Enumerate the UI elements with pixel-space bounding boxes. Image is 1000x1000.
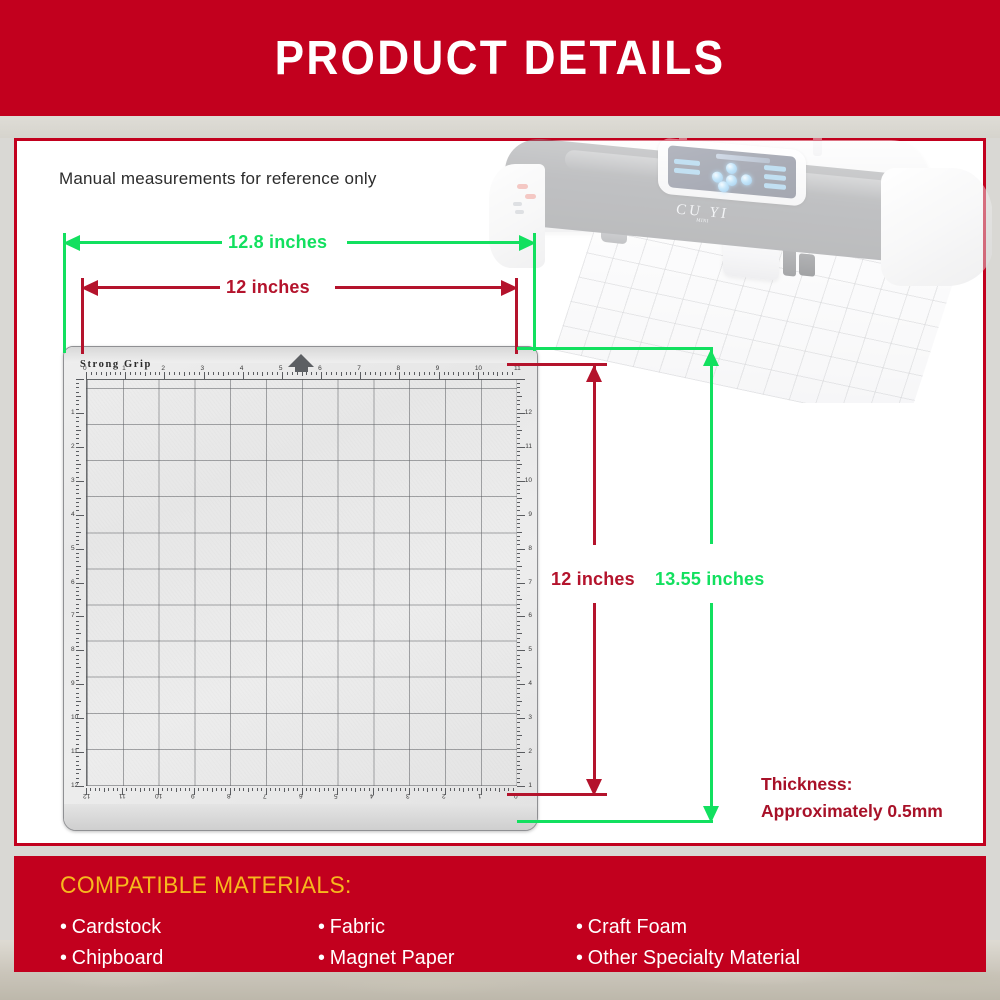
ruler-tick [395, 372, 396, 375]
ruler-tick [288, 788, 289, 791]
ruler-tick [76, 532, 81, 533]
ruler-tick [321, 372, 322, 379]
ruler-tick [370, 372, 371, 375]
ruler-tick [125, 372, 126, 379]
ruler-tick [270, 788, 271, 791]
ruler-tick [90, 788, 91, 791]
ruler-number: 4 [71, 511, 75, 518]
ruler-tick [230, 788, 231, 795]
ruler-tick [517, 493, 520, 494]
label-width-inner: 12 inches [220, 277, 316, 298]
ruler-tick [486, 788, 487, 791]
ruler-tick [287, 372, 288, 375]
ruler-tick [458, 372, 459, 376]
ruler-number: 1 [122, 365, 126, 372]
ruler-tick [76, 502, 79, 503]
ruler-tick [517, 396, 522, 397]
ruler-tick [297, 788, 298, 791]
ruler-tick [517, 485, 520, 486]
ruler-tick [517, 464, 522, 465]
ruler-tick [517, 587, 520, 588]
page-title: PRODUCT DETAILS [275, 31, 726, 86]
ruler-tick [76, 599, 81, 600]
ruler-tick [373, 788, 374, 795]
thickness-value: Approximately 0.5mm [761, 798, 943, 825]
ruler-tick [184, 372, 185, 376]
ruler-tick [164, 372, 165, 379]
ruler-tick [490, 788, 491, 791]
ruler-tick [91, 372, 92, 375]
ruler-tick [76, 621, 79, 622]
machine-action-button[interactable] [764, 174, 786, 181]
material-item: •Other Specialty Material [576, 942, 800, 973]
ruler-tick [517, 701, 522, 702]
cutting-machine-photo: CU YI MINI [483, 138, 992, 403]
ruler-tick [375, 372, 376, 375]
ruler-tick [76, 400, 79, 401]
material-label: Other Specialty Material [588, 946, 800, 969]
ruler-tick [517, 527, 520, 528]
ruler-number: 2 [528, 748, 532, 755]
mat-ruler-left: 123456789101112 [70, 379, 86, 786]
ruler-tick [364, 788, 365, 791]
ruler-tick [145, 372, 146, 376]
ruler-tick [311, 372, 312, 375]
ruler-tick [76, 782, 79, 783]
ruler-tick [444, 372, 445, 375]
ruler-tick [76, 718, 84, 719]
ruler-tick [517, 680, 520, 681]
ruler-number: 1 [71, 409, 75, 416]
bullet-icon: • [576, 946, 583, 969]
ruler-number: 3 [201, 365, 205, 372]
ruler-tick [76, 693, 79, 694]
ruler-tick [369, 788, 370, 791]
ruler-tick [429, 372, 430, 375]
ruler-tick [517, 404, 520, 405]
ruler-tick [262, 372, 263, 376]
ruler-tick [76, 748, 79, 749]
ruler-tick [76, 756, 79, 757]
ruler-tick [502, 372, 503, 375]
ruler-tick [204, 372, 205, 379]
ruler-tick [189, 788, 190, 791]
ruler-tick [76, 727, 79, 728]
product-details-infographic: PRODUCT DETAILS Manual measurements for … [0, 0, 1000, 1000]
ruler-tick [115, 372, 116, 375]
ruler-tick [441, 788, 442, 791]
mat-texture [87, 380, 517, 786]
ruler-tick [346, 788, 347, 791]
ruler-tick [171, 788, 172, 791]
ruler-tick [126, 788, 127, 791]
ruler-tick [76, 481, 84, 482]
ruler-tick [517, 659, 520, 660]
mat-ruler-right: 121110987654321 [517, 379, 533, 786]
ruler-tick [76, 655, 79, 656]
ruler-tick [76, 591, 79, 592]
machine-action-button[interactable] [764, 183, 786, 190]
ruler-tick [517, 633, 522, 634]
ruler-tick [76, 752, 84, 753]
ruler-tick [158, 788, 159, 795]
thickness-note: Thickness: Approximately 0.5mm [761, 771, 943, 825]
ruler-tick [454, 788, 455, 791]
ruler-tick [76, 396, 81, 397]
ruler-tick [517, 646, 520, 647]
ruler-tick [517, 553, 520, 554]
ruler-number: 3 [528, 714, 532, 721]
ruler-tick [144, 788, 145, 791]
ruler-tick [333, 788, 334, 791]
ruler-tick [499, 788, 500, 792]
green-width-arrow-left-icon [63, 235, 80, 251]
ruler-tick [517, 604, 520, 605]
ruler-tick [463, 372, 464, 375]
ruler-tick [468, 788, 469, 791]
ruler-number: 8 [528, 545, 532, 552]
ruler-tick [76, 680, 79, 681]
ruler-tick [517, 578, 520, 579]
ruler-tick [380, 372, 381, 376]
ruler-tick [253, 372, 254, 375]
ruler-tick [517, 765, 520, 766]
ruler-tick [225, 788, 226, 791]
red-extension-left [81, 278, 84, 354]
ruler-tick [199, 372, 200, 375]
ruler-tick [355, 788, 356, 792]
ruler-tick [238, 372, 239, 375]
ruler-tick [459, 788, 460, 791]
ruler-tick [76, 566, 81, 567]
ruler-tick [517, 481, 525, 482]
ruler-tick [517, 409, 520, 410]
ruler-tick [517, 506, 520, 507]
ruler-tick [76, 421, 79, 422]
ruler-tick [517, 477, 520, 478]
ruler-tick [284, 788, 285, 792]
ruler-tick [517, 655, 520, 656]
ruler-tick [282, 372, 283, 379]
material-item: •Fabric [318, 911, 566, 942]
ruler-tick [517, 722, 520, 723]
ruler-tick [477, 788, 478, 791]
ruler-tick [365, 372, 366, 375]
ruler-tick [76, 659, 79, 660]
ruler-tick [390, 372, 391, 375]
materials-columns: •Cardstock•Chipboard•Fabric•Magnet Paper… [60, 911, 986, 973]
materials-column: •Fabric•Magnet Paper [318, 911, 576, 973]
ruler-tick [517, 536, 520, 537]
ruler-tick [517, 731, 520, 732]
ruler-tick [76, 731, 79, 732]
red-width-arrow-left-icon [81, 280, 98, 296]
ruler-tick [517, 591, 520, 592]
ruler-tick [76, 519, 79, 520]
ruler-tick [517, 400, 520, 401]
ruler-tick [76, 684, 84, 685]
ruler-tick [239, 788, 240, 791]
machine-indicator-led [513, 202, 522, 206]
ruler-tick [140, 372, 141, 375]
ruler-tick [130, 372, 131, 375]
ruler-tick [76, 477, 79, 478]
ruler-tick [169, 372, 170, 375]
ruler-tick [409, 372, 410, 375]
ruler-tick [346, 372, 347, 375]
machine-down-button[interactable] [718, 181, 729, 193]
ruler-tick [517, 714, 520, 715]
ruler-tick [135, 788, 136, 791]
machine-indicator-led [525, 194, 536, 199]
ruler-tick [248, 788, 249, 792]
ruler-tick [167, 788, 168, 791]
ruler-tick [180, 788, 181, 791]
ruler-tick [76, 493, 79, 494]
ruler-tick [110, 372, 111, 375]
ruler-tick [517, 667, 522, 668]
green-extension-left [63, 233, 66, 353]
ruler-tick [517, 468, 520, 469]
material-item: •Chipboard [60, 942, 308, 973]
bullet-icon: • [60, 915, 67, 938]
ruler-tick [76, 583, 84, 584]
ruler-number: 9 [71, 680, 75, 687]
ruler-tick [414, 372, 415, 375]
ruler-tick [76, 417, 79, 418]
ruler-tick [517, 510, 520, 511]
ruler-tick [76, 413, 84, 414]
ruler-tick [517, 625, 520, 626]
bullet-icon: • [318, 946, 325, 969]
ruler-tick [517, 616, 525, 617]
machine-screen-caption [716, 154, 770, 164]
ruler-tick [76, 676, 79, 677]
ruler-tick [517, 434, 520, 435]
ruler-number: 6 [528, 612, 532, 619]
ruler-tick [76, 553, 79, 554]
ruler-tick [517, 498, 522, 499]
ruler-tick [76, 383, 79, 384]
ruler-tick [208, 372, 209, 375]
ruler-tick [396, 788, 397, 791]
ruler-tick [399, 372, 400, 379]
machine-lcd-screen [668, 145, 796, 199]
ruler-tick [434, 372, 435, 375]
machine-menu-button[interactable] [674, 159, 700, 166]
ruler-tick [481, 788, 482, 795]
bullet-icon: • [576, 915, 583, 938]
ruler-tick [203, 788, 204, 791]
machine-menu-button[interactable] [674, 168, 700, 175]
ruler-tick [216, 788, 217, 791]
ruler-tick [517, 523, 520, 524]
ruler-number: 3 [71, 477, 75, 484]
machine-action-button[interactable] [764, 165, 786, 172]
ruler-number: 11 [525, 443, 532, 450]
ruler-tick [517, 472, 520, 473]
ruler-tick [360, 372, 361, 379]
ruler-tick [336, 372, 337, 375]
ruler-tick [315, 788, 316, 791]
ruler-tick [76, 604, 79, 605]
ruler-tick [189, 372, 190, 375]
machine-indicator-led [515, 210, 524, 214]
ruler-tick [252, 788, 253, 791]
ruler-tick [76, 646, 79, 647]
ruler-tick [517, 718, 525, 719]
ruler-tick [76, 544, 79, 545]
ruler-tick [76, 468, 79, 469]
ruler-tick [120, 372, 121, 375]
ruler-tick [517, 705, 520, 706]
ruler-tick [450, 788, 451, 791]
ruler-tick [517, 532, 522, 533]
ruler-tick [517, 438, 520, 439]
ruler-tick [517, 599, 522, 600]
ruler-tick [76, 523, 79, 524]
ruler-tick [517, 426, 520, 427]
ruler-tick [150, 372, 151, 375]
ruler-tick [104, 788, 105, 792]
ruler-tick [131, 788, 132, 791]
ruler-tick [76, 697, 79, 698]
ruler-tick [76, 527, 79, 528]
ruler-tick [76, 506, 79, 507]
materials-column: •Craft Foam•Other Specialty Material [576, 911, 809, 973]
ruler-tick [517, 693, 520, 694]
ruler-tick [76, 578, 79, 579]
red-width-line-left [93, 286, 223, 289]
ruler-tick [76, 455, 79, 456]
red-height-line-bottom [593, 603, 596, 787]
ruler-tick [463, 788, 464, 792]
ruler-tick [448, 372, 449, 375]
mat-ruler-top: 01234567891011 [86, 365, 517, 379]
ruler-tick [436, 788, 437, 791]
ruler-tick [149, 788, 150, 791]
ruler-tick [76, 616, 84, 617]
ruler-tick [478, 372, 479, 379]
ruler-tick [432, 788, 433, 791]
ruler-tick [306, 788, 307, 791]
ruler-tick [159, 372, 160, 375]
ruler-tick [517, 570, 520, 571]
ruler-tick [517, 786, 525, 787]
ruler-tick [517, 489, 520, 490]
ruler-tick [76, 434, 79, 435]
ruler-tick [310, 788, 311, 791]
ruler-tick [517, 392, 520, 393]
ruler-tick [113, 788, 114, 791]
ruler-tick [360, 788, 361, 791]
ruler-tick [95, 788, 96, 791]
ruler-tick [513, 788, 514, 791]
ruler-tick [337, 788, 338, 795]
ruler-tick [267, 372, 268, 375]
ruler-tick [517, 583, 525, 584]
ruler-tick [76, 769, 81, 770]
reference-note: Manual measurements for reference only [59, 169, 377, 189]
ruler-tick [517, 773, 520, 774]
ruler-tick [517, 735, 522, 736]
green-width-line-left [75, 241, 225, 244]
ruler-number: 9 [436, 365, 440, 372]
ruler-tick [153, 788, 154, 791]
ruler-tick [493, 372, 494, 375]
ruler-tick [331, 372, 332, 375]
ruler-tick [223, 372, 224, 376]
ruler-tick [76, 472, 79, 473]
ruler-tick [517, 744, 520, 745]
detail-panel: Manual measurements for reference only [14, 138, 986, 846]
ruler-tick [279, 788, 280, 791]
ruler-tick [266, 788, 267, 795]
ruler-tick [76, 392, 79, 393]
ruler-tick [517, 387, 520, 388]
ruler-tick [378, 788, 379, 791]
machine-left-cap [489, 164, 545, 268]
ruler-tick [194, 372, 195, 375]
ruler-tick [207, 788, 208, 791]
ruler-tick [76, 430, 81, 431]
ruler-tick [517, 515, 525, 516]
ruler-tick [76, 485, 79, 486]
ruler-tick [517, 688, 520, 689]
ruler-tick [212, 788, 213, 792]
ruler-tick [76, 595, 79, 596]
ruler-tick [504, 788, 505, 791]
ruler-tick [507, 372, 508, 375]
ruler-tick [76, 498, 81, 499]
ruler-tick [517, 608, 520, 609]
ruler-tick [517, 544, 520, 545]
ruler-tick [76, 625, 79, 626]
ruler-tick [468, 372, 469, 375]
ruler-tick [76, 612, 79, 613]
ruler-tick [76, 447, 84, 448]
ruler-tick [409, 788, 410, 795]
ruler-tick [517, 638, 520, 639]
ruler-tick [135, 372, 136, 375]
ruler-tick [517, 502, 520, 503]
material-label: Fabric [330, 915, 385, 938]
ruler-tick [316, 372, 317, 375]
ruler-number: 7 [357, 365, 361, 372]
ruler-tick [342, 788, 343, 791]
machine-right-button[interactable] [741, 174, 752, 186]
ruler-tick [155, 372, 156, 375]
green-height-line-bottom [710, 603, 713, 815]
red-width-line-right [335, 286, 503, 289]
ruler-tick [423, 788, 424, 791]
ruler-number: 12 [525, 409, 532, 416]
machine-up-button[interactable] [726, 162, 737, 174]
ruler-tick [517, 447, 525, 448]
ruler-tick [387, 788, 388, 791]
ruler-tick [76, 778, 79, 779]
ruler-tick [517, 557, 520, 558]
label-height-inner: 12 inches [545, 569, 641, 590]
ruler-number: 11 [514, 365, 521, 372]
bullet-icon: • [318, 915, 325, 938]
ruler-tick [517, 697, 520, 698]
ruler-tick [194, 788, 195, 795]
materials-column: •Cardstock•Chipboard [60, 911, 318, 973]
ruler-tick [213, 372, 214, 375]
ruler-tick [96, 372, 97, 375]
ruler-tick [76, 786, 84, 787]
